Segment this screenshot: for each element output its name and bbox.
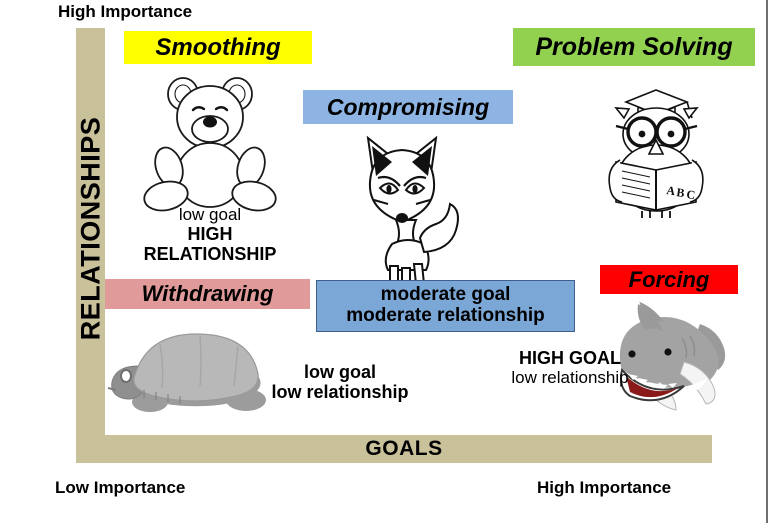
relationships-high-importance-label: High Importance xyxy=(58,2,192,22)
smoothing-relationship-line1: HIGH xyxy=(110,224,310,244)
withdrawing-goal-text: low goal xyxy=(245,362,435,382)
smoothing-description: low goal HIGH RELATIONSHIP xyxy=(110,205,310,264)
teddy-bear-icon xyxy=(136,72,284,212)
smoothing-goal-text: low goal xyxy=(110,205,310,224)
style-banner-compromising: Compromising xyxy=(303,90,513,124)
style-banner-withdrawing: Withdrawing xyxy=(105,279,310,309)
compromising-desc-line2: moderate relationship xyxy=(346,306,545,327)
withdrawing-relationship-text: low relationship xyxy=(245,382,435,402)
style-banner-problem-solving: Problem Solving xyxy=(513,28,755,66)
forcing-description: HIGH GOAL low relationship xyxy=(480,348,660,387)
owl-icon: A B C xyxy=(586,74,726,220)
compromising-description-box: moderate goal moderate relationship xyxy=(316,280,575,332)
relationships-axis-bar xyxy=(76,28,105,463)
smoothing-relationship-line2: RELATIONSHIP xyxy=(110,244,310,264)
goals-axis-label: GOALS xyxy=(96,435,712,463)
style-banner-smoothing: Smoothing xyxy=(124,31,312,64)
forcing-goal-text: HIGH GOAL xyxy=(480,348,660,368)
conflict-styles-diagram: RELATIONSHIPS GOALS High Importance Low … xyxy=(0,0,768,523)
fox-icon xyxy=(344,128,472,286)
goals-low-importance-label: Low Importance xyxy=(55,478,185,498)
compromising-desc-line1: moderate goal xyxy=(381,285,511,306)
forcing-relationship-text: low relationship xyxy=(480,368,660,387)
style-banner-forcing: Forcing xyxy=(600,265,738,294)
goals-high-importance-label: High Importance xyxy=(537,478,671,498)
withdrawing-description: low goal low relationship xyxy=(245,362,435,402)
